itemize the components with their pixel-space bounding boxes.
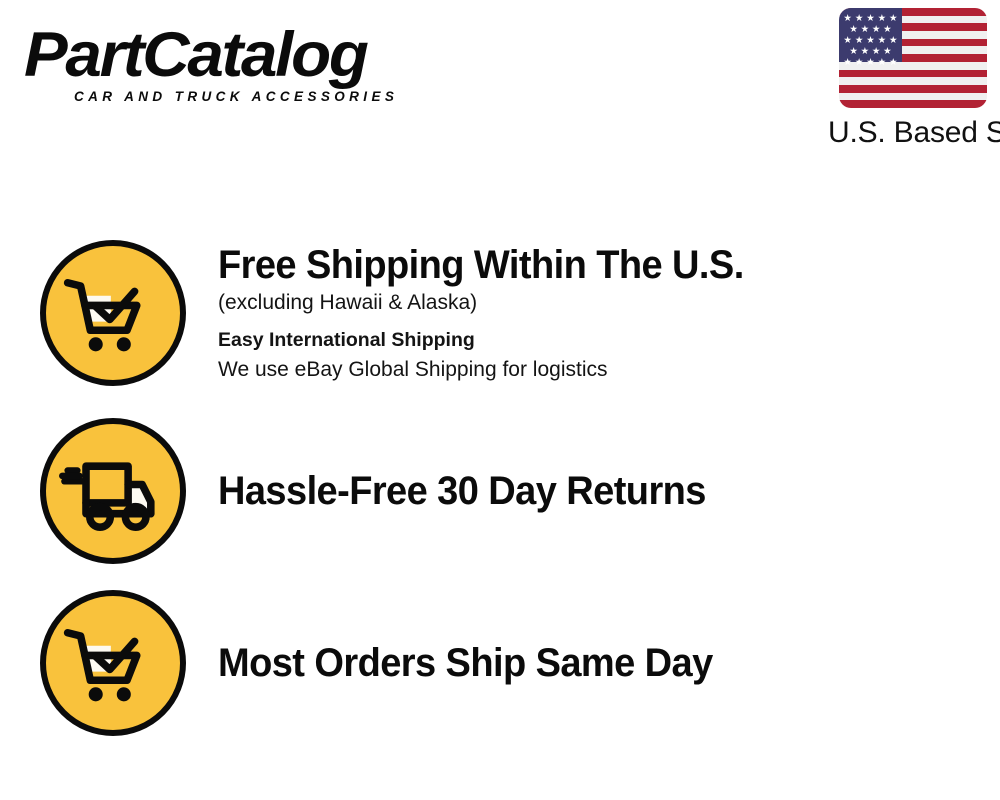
us-based-seller-badge: ★★★★★ ★★★★ ★★★★★ ★★★★ ★★★★★ U.S. Based S…: [834, 8, 992, 150]
feature-row-free-shipping: Free Shipping Within The U.S. (excluding…: [40, 240, 771, 386]
delivery-truck-icon: [40, 418, 186, 564]
flag-canton-stars: ★★★★★ ★★★★ ★★★★★ ★★★★ ★★★★★: [839, 8, 902, 62]
feature-subtext-international-heading: Easy International Shipping: [218, 325, 771, 355]
shopping-cart-check-glyph: [59, 259, 167, 367]
feature-text-block: Most Orders Ship Same Day: [218, 640, 739, 686]
feature-text-block: Free Shipping Within The U.S. (excluding…: [218, 242, 771, 385]
us-based-seller-label: U.S. Based Seller: [828, 116, 992, 150]
shopping-cart-check-glyph: [59, 609, 167, 717]
delivery-truck-glyph: [59, 437, 167, 545]
feature-heading: Most Orders Ship Same Day: [218, 640, 713, 686]
shopping-cart-check-icon: [40, 590, 186, 736]
feature-text-block: Hassle-Free 30 Day Returns: [218, 468, 732, 514]
us-flag-icon: ★★★★★ ★★★★ ★★★★★ ★★★★ ★★★★★: [839, 8, 987, 108]
feature-row-returns: Hassle-Free 30 Day Returns: [40, 418, 732, 564]
feature-row-same-day-ship: Most Orders Ship Same Day: [40, 590, 739, 736]
feature-subtext-exclusions: (excluding Hawaii & Alaska): [218, 288, 771, 318]
brand-tagline: CAR AND TRUCK ACCESSORIES: [74, 89, 494, 104]
feature-heading: Hassle-Free 30 Day Returns: [218, 468, 706, 514]
feature-subtext-logistics: We use eBay Global Shipping for logistic…: [218, 355, 771, 385]
shopping-cart-check-icon: [40, 240, 186, 386]
feature-heading: Free Shipping Within The U.S.: [218, 242, 744, 288]
brand-wordmark: PartCatalog: [24, 22, 513, 88]
brand-logo: PartCatalog CAR AND TRUCK ACCESSORIES: [24, 22, 494, 114]
promo-banner: PartCatalog CAR AND TRUCK ACCESSORIES: [0, 0, 1000, 800]
